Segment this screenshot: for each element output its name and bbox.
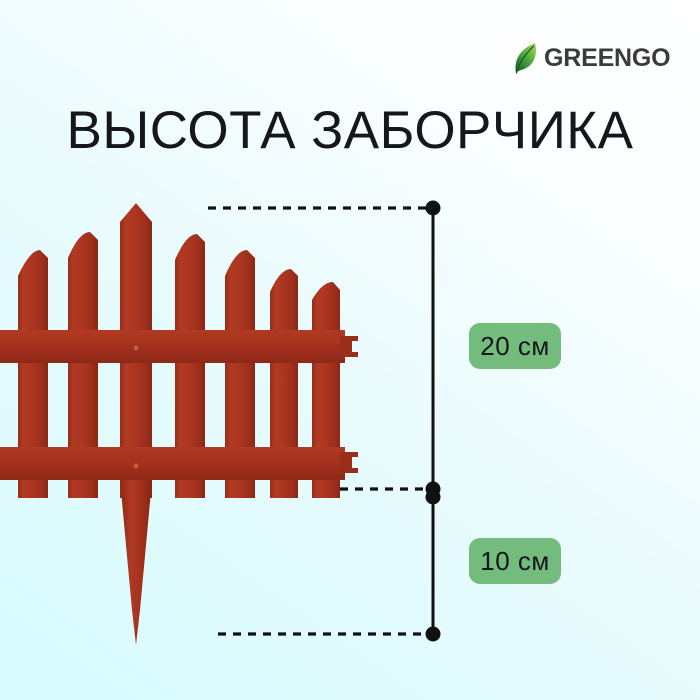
- brand-logo: GREENGO: [511, 40, 670, 76]
- measurement-badge-upper: 20 см: [469, 323, 561, 369]
- leaf-icon: [511, 40, 541, 76]
- measurement-badge-lower: 10 см: [469, 538, 561, 584]
- measure-endpoint-bottom: [426, 627, 441, 642]
- page-title: ВЫСОТА ЗАБОРЧИКА: [0, 100, 700, 161]
- measure-endpoint-top: [426, 201, 441, 216]
- brand-wordmark: GREENGO: [544, 46, 670, 71]
- measure-endpoint-lower-top: [426, 490, 441, 505]
- poster-canvas: GREENGO ВЫСОТА ЗАБОРЧИКА 20 см 10 см: [0, 0, 700, 700]
